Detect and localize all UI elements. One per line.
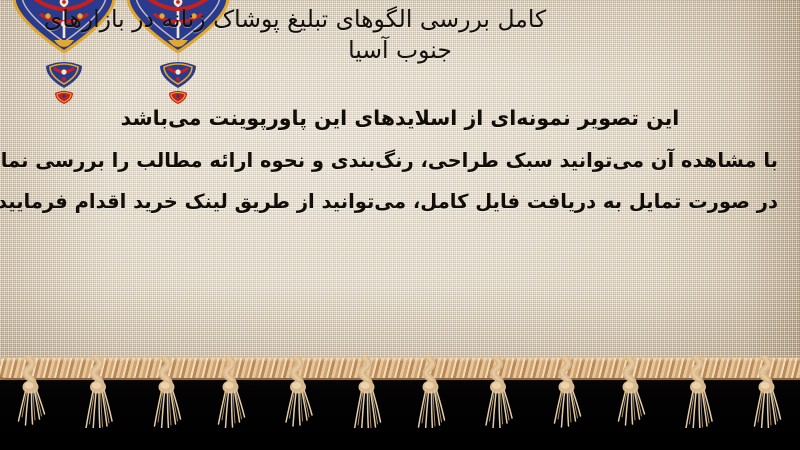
- presentation-slide: کامل بررسی الگوهای تبلیغ پوشاک زنانه در …: [0, 0, 800, 450]
- fringe-tassel: [678, 356, 718, 432]
- fringe-tassel: [212, 356, 252, 432]
- slide-body-line-2: با مشاهده آن می‌توانید سبک طراحی، رنگ‌بن…: [22, 151, 778, 171]
- fringe-tassel: [78, 356, 118, 432]
- slide-title-line-1: کامل بررسی الگوهای تبلیغ پوشاک زنانه در …: [18, 4, 782, 35]
- slide-title: کامل بررسی الگوهای تبلیغ پوشاک زنانه در …: [0, 4, 800, 67]
- fringe-tassel: [278, 356, 318, 432]
- fringe-tassel: [478, 356, 518, 432]
- slide-body-text: این تصویر نمونه‌ای از اسلایدهای این پاور…: [0, 108, 800, 212]
- slide-title-line-2: جنوب آسیا: [18, 35, 782, 66]
- fringe-tassel: [612, 356, 652, 432]
- fringe-tassel: [545, 356, 585, 432]
- fringe-tassel: [12, 356, 52, 432]
- slide-body-line-1: این تصویر نمونه‌ای از اسلایدهای این پاور…: [22, 108, 778, 129]
- fringe-tassel: [412, 356, 452, 432]
- fringe-tassel: [745, 356, 785, 432]
- fringe-tassel: [145, 356, 185, 432]
- slide-body-line-3: در صورت تمایل به دریافت فایل کامل، می‌تو…: [22, 192, 778, 212]
- fringe-tassel: [345, 356, 385, 432]
